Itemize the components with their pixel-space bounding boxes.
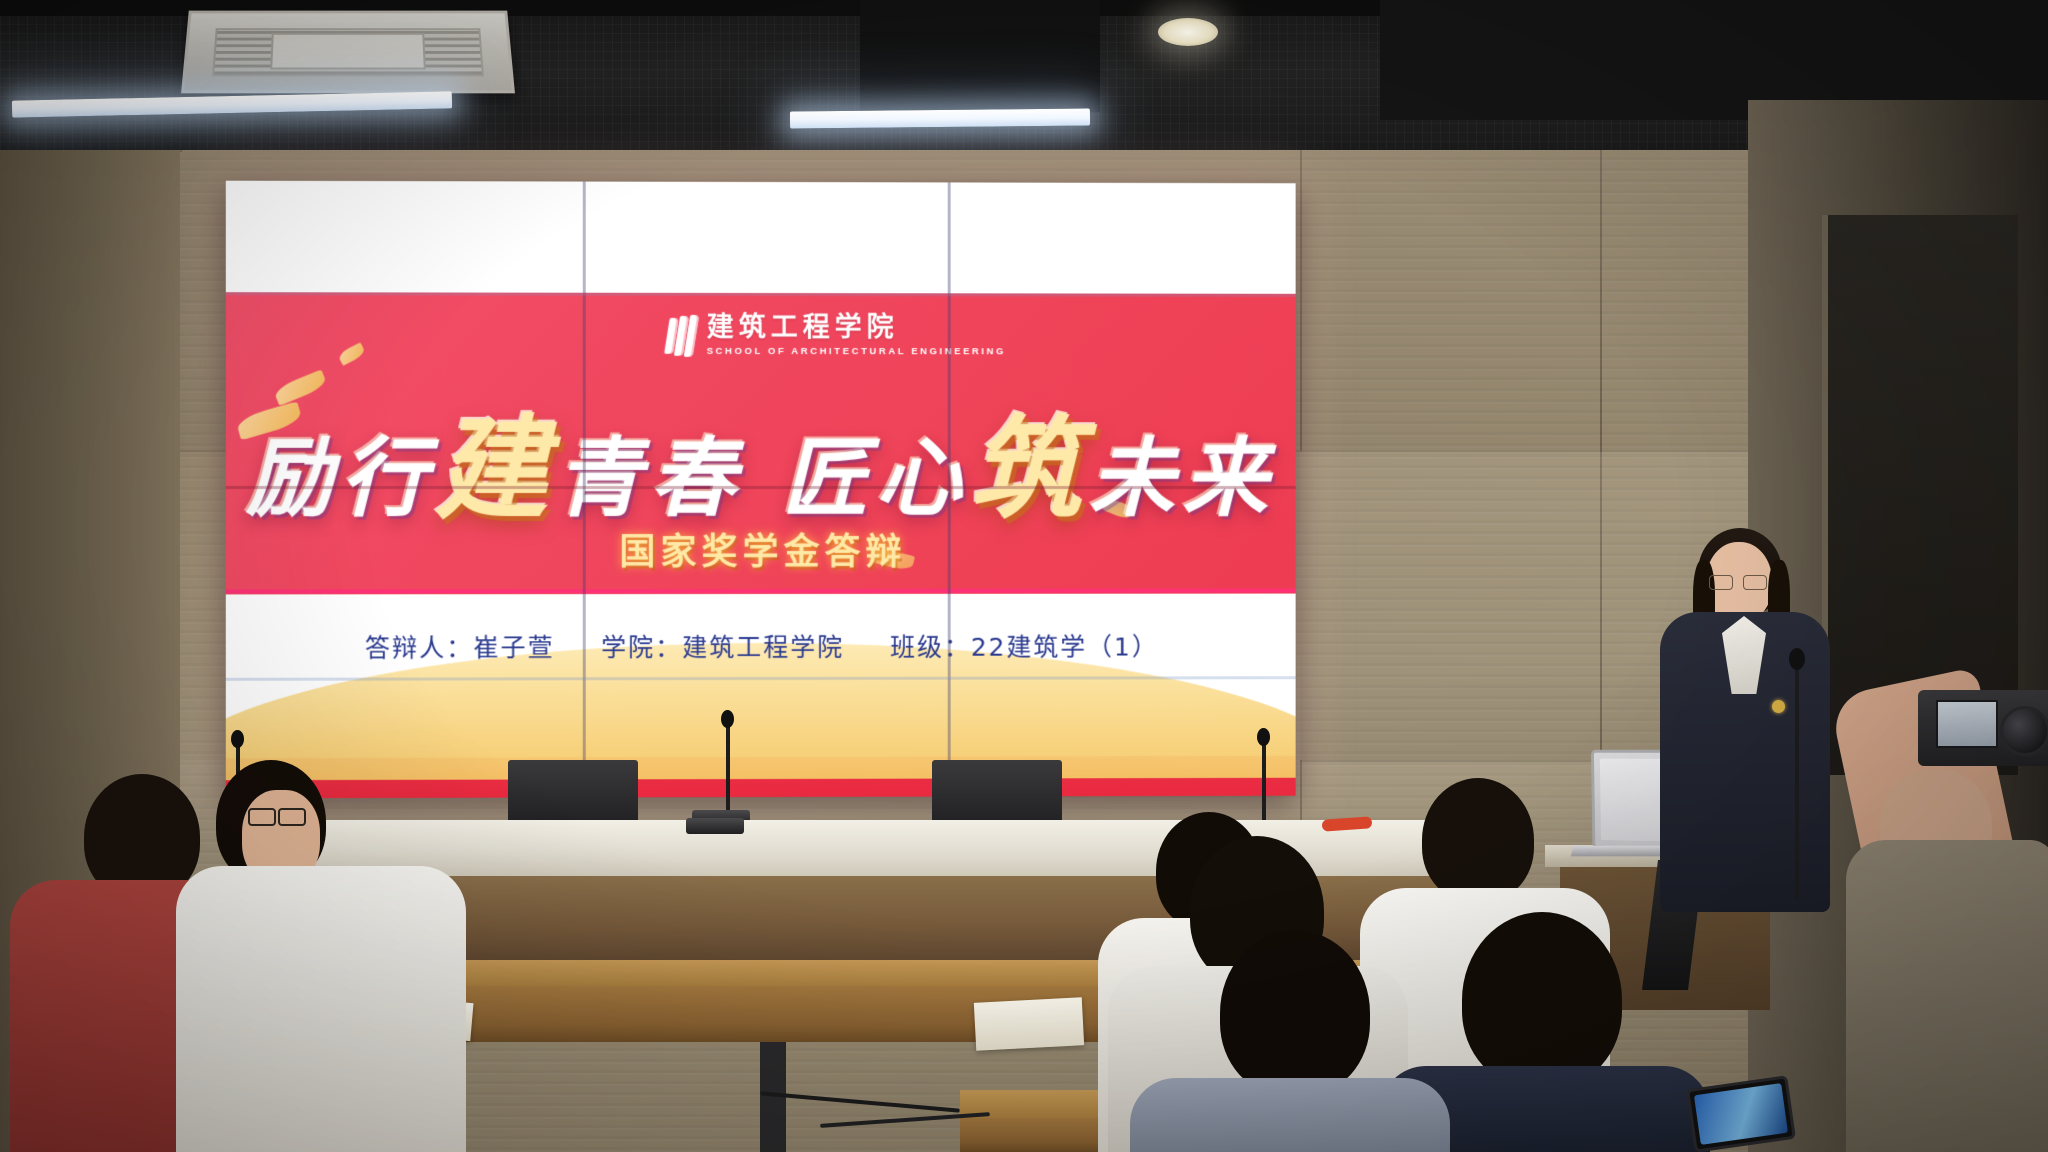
audience-body [1130, 1078, 1450, 1152]
floor-microphone-stand [1795, 660, 1799, 900]
meta-value: 崔子萱 [473, 633, 554, 662]
meta-label: 学院： [601, 633, 682, 662]
slide-headline: 励行建青春 匠心筑未来 [226, 378, 1296, 541]
meta-value: 22建筑学（1） [971, 632, 1159, 661]
meta-label: 班级： [890, 633, 971, 662]
wall-panel [1300, 450, 1602, 762]
desk-microphone-base [686, 818, 744, 834]
camera-screen [1936, 700, 1998, 748]
audience-glasses-icon [248, 808, 302, 822]
audience-head [1220, 930, 1370, 1096]
screenshot-root: 建筑工程学院 SCHOOL OF ARCHITECTURAL ENGINEERI… [0, 0, 2048, 1152]
light-strip-right [790, 108, 1090, 128]
presentation-slide: 建筑工程学院 SCHOOL OF ARCHITECTURAL ENGINEERI… [226, 181, 1296, 799]
audience-body [176, 866, 466, 1152]
led-video-wall[interactable]: 建筑工程学院 SCHOOL OF ARCHITECTURAL ENGINEERI… [226, 181, 1296, 799]
presenter-glasses-icon [1709, 575, 1767, 588]
camera-lens-icon [2000, 706, 2048, 756]
ceiling-beam-center [860, 0, 1100, 112]
slide-meta-row: 答辩人：崔子萱 学院：建筑工程学院 班级：22建筑学（1） [226, 627, 1296, 664]
desk-microphone-head [1257, 728, 1270, 746]
headline-part-gold: 建 [435, 404, 555, 535]
downlight [1158, 18, 1218, 46]
headline-part: 青春 匠心 [556, 428, 970, 529]
wall-panel [1300, 150, 1602, 452]
ac-center-panel [270, 33, 426, 70]
desk-microphone-stand [726, 722, 730, 822]
book-stack-icon [667, 315, 697, 357]
meta-value: 建筑工程学院 [682, 633, 844, 662]
chair-left[interactable] [508, 760, 638, 820]
school-name-cn: 建筑工程学院 [707, 314, 1006, 341]
headline-part: 励行 [246, 428, 435, 529]
slide-subtitle: 国家奖学金答辩 [226, 523, 1296, 576]
slide-meta-class: 班级：22建筑学（1） [890, 627, 1159, 663]
school-name-en: SCHOOL OF ARCHITECTURAL ENGINEERING [707, 346, 1006, 357]
headline-part: 未来 [1089, 428, 1276, 529]
smartphone[interactable] [1686, 1075, 1796, 1152]
headline-part-gold: 筑 [970, 404, 1089, 535]
audience-head [1422, 778, 1534, 902]
slide-top-white-band [226, 181, 1296, 294]
slide-meta-presenter: 答辩人：崔子萱 [365, 628, 555, 664]
desk-microphone-head [721, 710, 734, 728]
smartphone-screen [1694, 1083, 1788, 1145]
paper-sheet [974, 997, 1084, 1051]
slide-meta-school: 学院：建筑工程学院 [601, 628, 844, 664]
camera-operator-body [1846, 840, 2048, 1152]
floor-microphone-head [1789, 648, 1805, 670]
presenter-badge [1772, 700, 1785, 713]
school-logo: 建筑工程学院 SCHOOL OF ARCHITECTURAL ENGINEERI… [667, 314, 1006, 357]
desk-microphone-head [231, 730, 244, 748]
meta-label: 答辩人： [365, 633, 474, 662]
audience-head [1462, 912, 1622, 1088]
ceiling-ac-unit [181, 11, 515, 94]
chair-right[interactable] [932, 760, 1062, 820]
videowall-seam-horizontal [226, 486, 1296, 489]
videowall-seam-vertical [948, 182, 951, 796]
videowall-seam-vertical [583, 182, 586, 798]
desk-microphone-stand [1262, 740, 1266, 826]
